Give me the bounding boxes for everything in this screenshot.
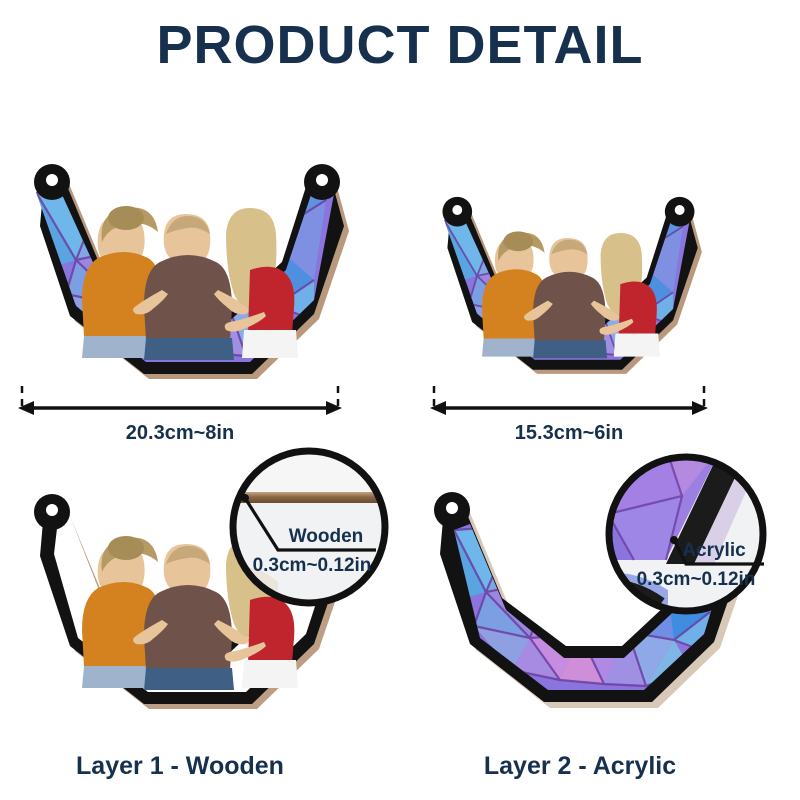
callout-wooden-thickness: 0.3cm~0.12in	[253, 555, 372, 576]
callout-acrylic: Acrylic 0.3cm~0.12in	[604, 452, 768, 616]
callout-wooden-material: Wooden	[289, 526, 364, 547]
dimension-arrow	[18, 401, 342, 415]
callout-acrylic-thickness: 0.3cm~0.12in	[637, 569, 756, 590]
layer1-caption: Layer 1 - Wooden	[20, 752, 340, 781]
dimension-left: 20.3cm~8in	[10, 386, 350, 448]
hanging-hole-left	[34, 164, 70, 200]
page-title: PRODUCT DETAIL	[0, 14, 800, 76]
hanging-hole-right	[665, 197, 695, 227]
hanging-hole-right	[304, 164, 340, 200]
hanging-hole-left	[434, 492, 470, 528]
dimension-right-label: 15.3cm~6in	[424, 422, 714, 445]
product-image-top-right	[426, 160, 706, 400]
dimension-left-label: 20.3cm~8in	[10, 422, 350, 445]
callout-acrylic-material: Acrylic	[682, 540, 746, 561]
product-detail-infographic: PRODUCT DETAIL	[0, 0, 800, 800]
product-image-top-left	[14, 130, 354, 400]
hanging-hole-left	[442, 197, 472, 227]
callout-wooden: Wooden 0.3cm~0.12in	[228, 446, 390, 608]
layer2-caption: Layer 2 - Acrylic	[420, 752, 740, 781]
hanging-hole-left	[34, 494, 70, 530]
dimension-arrow	[430, 401, 708, 415]
dimension-right: 15.3cm~6in	[424, 386, 714, 448]
